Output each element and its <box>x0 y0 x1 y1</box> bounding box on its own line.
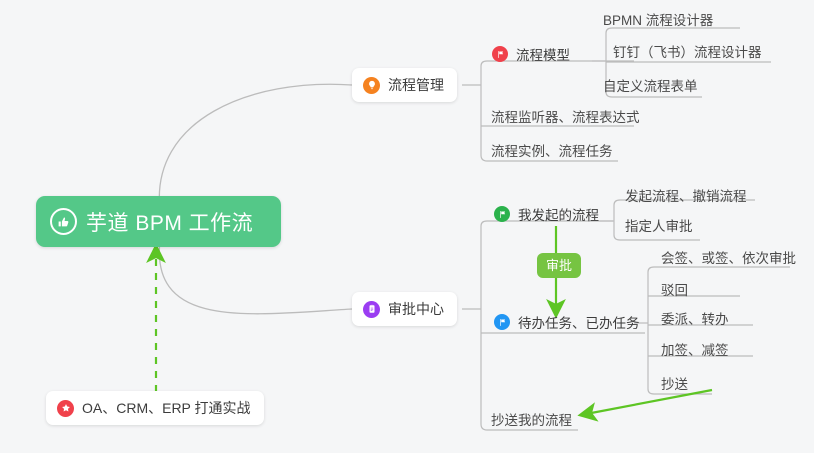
leaf-delegate-transfer[interactable]: 委派、转办 <box>661 311 729 332</box>
node-label: 我发起的流程 <box>518 204 599 224</box>
leaf-start-cancel-process[interactable]: 发起流程、撤销流程 <box>625 188 747 209</box>
leaf-countersign[interactable]: 会签、或签、依次审批 <box>661 250 796 271</box>
node-process-model[interactable]: 流程模型 <box>492 44 570 68</box>
branch-process-management[interactable]: 流程管理 <box>352 68 457 102</box>
leaf-designated-approval[interactable]: 指定人审批 <box>625 218 693 239</box>
branch-approval-center[interactable]: 审批中心 <box>352 292 457 326</box>
clipboard-icon <box>363 301 380 318</box>
branch-label: 审批中心 <box>388 299 444 319</box>
leaf-reject[interactable]: 驳回 <box>661 282 688 303</box>
thumbs-up-icon <box>50 208 77 235</box>
root-node[interactable]: 芋道 BPM 工作流 <box>36 196 281 247</box>
mindmap-canvas: 芋道 BPM 工作流 流程管理 审批中心 流程模型 BPMN 流程设计器 钉钉（… <box>0 0 814 453</box>
leaf-custom-form[interactable]: 自定义流程表单 <box>603 78 698 99</box>
leaf-dingtalk-designer[interactable]: 钉钉（飞书）流程设计器 <box>613 44 762 65</box>
branch-label: 流程管理 <box>388 75 444 95</box>
node-label: 流程模型 <box>516 44 570 64</box>
leaf-process-instance[interactable]: 流程实例、流程任务 <box>491 143 613 164</box>
lightbulb-icon <box>363 77 380 94</box>
node-todo-done-tasks[interactable]: 待办任务、已办任务 <box>494 312 640 336</box>
star-icon <box>57 400 74 417</box>
flag-icon <box>494 206 510 222</box>
flag-icon <box>492 46 508 62</box>
leaf-cc-to-me[interactable]: 抄送我的流程 <box>491 412 572 433</box>
leaf-bpmn-designer[interactable]: BPMN 流程设计器 <box>603 12 713 33</box>
approval-annotation-pill: 审批 <box>537 253 581 278</box>
leaf-add-remove-sign[interactable]: 加签、减签 <box>661 342 729 363</box>
leaf-cc[interactable]: 抄送 <box>661 376 688 397</box>
bottom-node-label: OA、CRM、ERP 打通实战 <box>82 398 251 418</box>
node-my-initiated[interactable]: 我发起的流程 <box>494 204 599 228</box>
node-label: 待办任务、已办任务 <box>518 312 640 332</box>
leaf-process-listener[interactable]: 流程监听器、流程表达式 <box>491 109 640 130</box>
bottom-node-integration[interactable]: OA、CRM、ERP 打通实战 <box>46 391 264 425</box>
flag-icon <box>494 314 510 330</box>
root-label: 芋道 BPM 工作流 <box>86 207 253 237</box>
